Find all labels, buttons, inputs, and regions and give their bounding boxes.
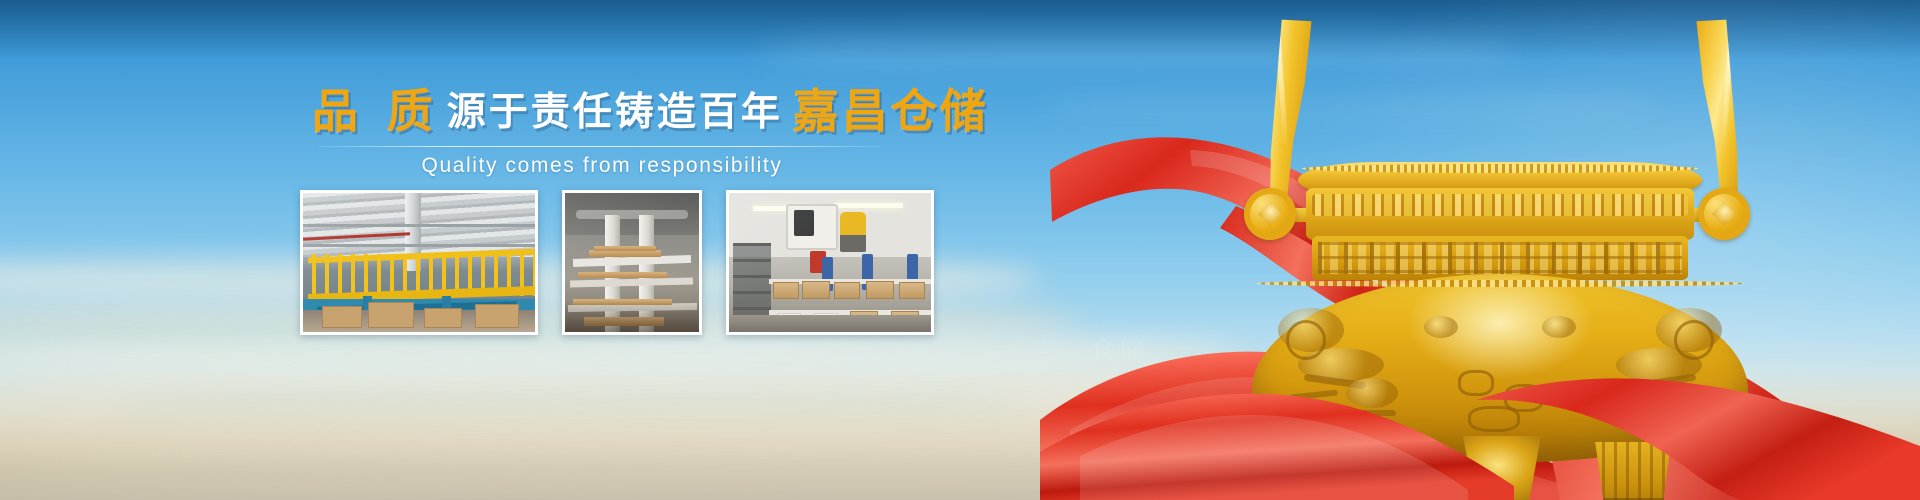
shelving-carton-image <box>729 193 931 332</box>
red-silk-ribbon-lower <box>1040 0 1920 500</box>
decorative-ding-group <box>1040 0 1920 500</box>
headline-brand-name: 嘉昌仓储 <box>793 88 989 134</box>
hero-banner: 嘉昌 仓储 品 质 源于责任铸造百年 嘉昌仓储 Quality comes fr… <box>0 0 1920 500</box>
photo-thumbnail-2[interactable] <box>562 190 702 335</box>
headline-divider <box>318 146 880 147</box>
headline-white-text: 源于责任铸造百年 <box>441 93 793 134</box>
headline-gold-lead: 品 质 <box>312 88 441 134</box>
photo-thumbnail-3[interactable] <box>726 190 934 335</box>
photo-thumbnail-1[interactable] <box>300 190 538 335</box>
cantilever-rack-image <box>565 193 699 332</box>
photo-strip <box>300 190 934 335</box>
subtitle: Quality comes from responsibility <box>322 152 882 179</box>
warehouse-mezzanine-image <box>303 193 535 332</box>
headline: 品 质 源于责任铸造百年 嘉昌仓储 <box>312 88 989 134</box>
